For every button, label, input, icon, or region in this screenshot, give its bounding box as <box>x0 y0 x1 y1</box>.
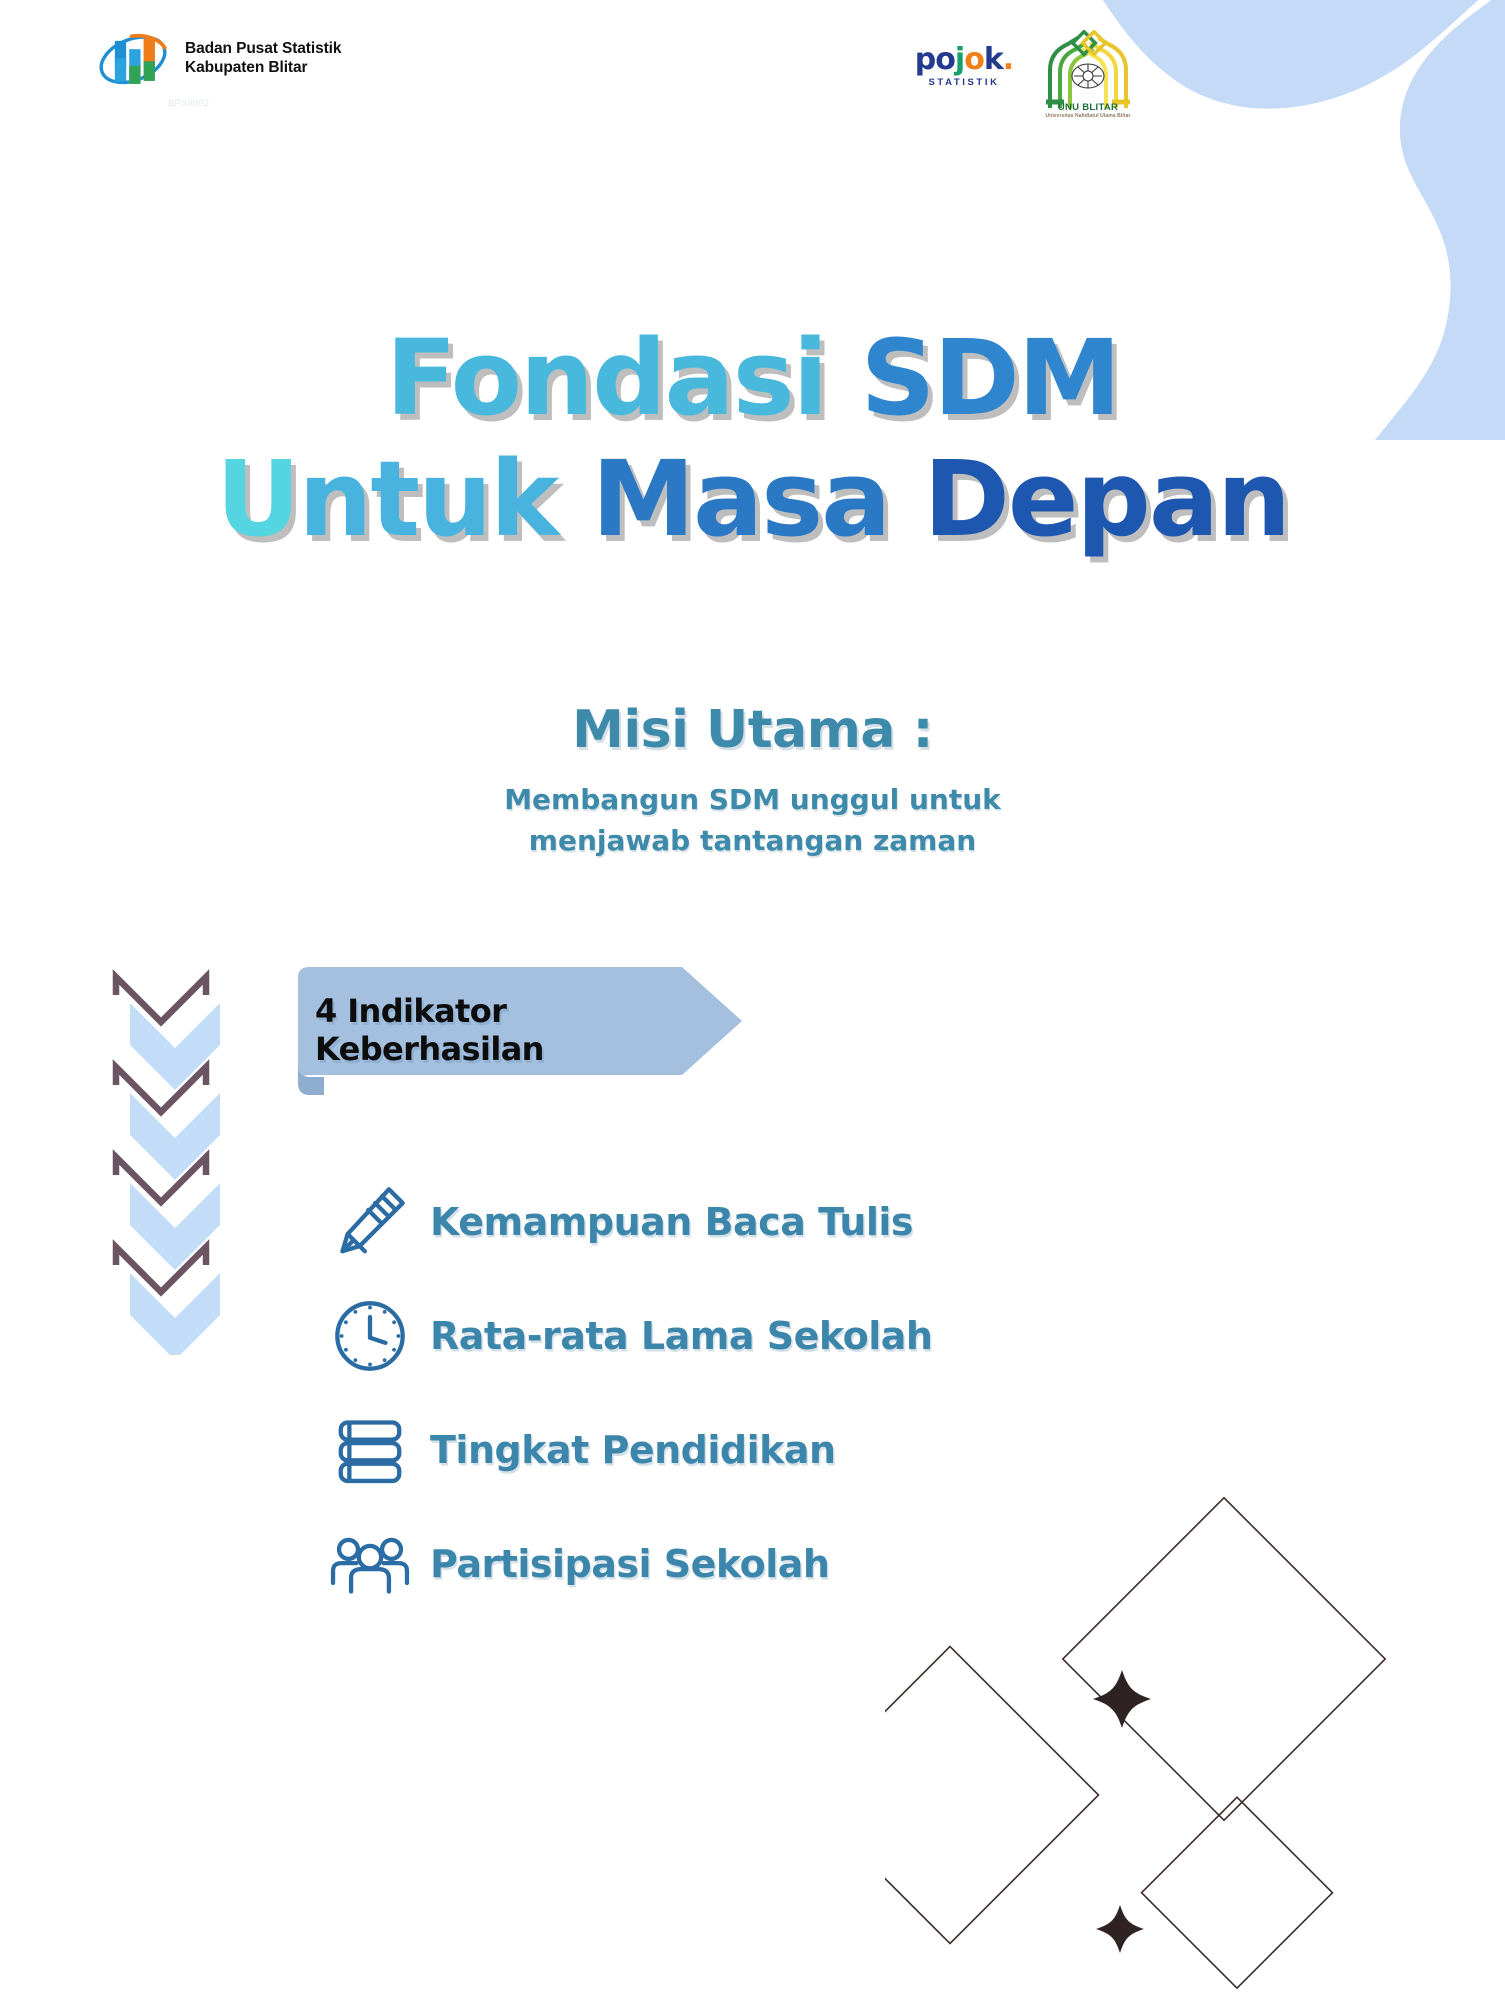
mission-heading: Misi Utama : <box>0 700 1505 760</box>
chevron-filled-icon <box>130 1273 220 1355</box>
chevron-decoration-group <box>110 955 300 1355</box>
poster-header: Badan Pusat Statistik Kabupaten Blitar B… <box>0 0 1505 130</box>
pojok-statistik-logo: pojok. STATISTIK <box>908 46 1020 88</box>
pojok-wordmark: pojok. <box>908 46 1020 75</box>
pencil-icon <box>310 1177 430 1267</box>
mission-subtitle-line2: menjawab tantangan zaman <box>0 821 1505 862</box>
title-part: ntuk <box>298 438 591 560</box>
bps-logo-icon <box>95 28 171 90</box>
indicator-list: Kemampuan Baca Tulis Rata-rata Lama Seko… <box>310 1165 1210 1621</box>
books-icon <box>310 1405 430 1495</box>
indicator-label: Rata-rata Lama Sekolah <box>430 1314 932 1358</box>
chevron-outline-icon <box>116 977 206 1022</box>
indicator-row: Tingkat Pendidikan <box>310 1393 1210 1507</box>
title-part: Fondasi <box>386 317 861 439</box>
bps-logo-text: Badan Pusat Statistik Kabupaten Blitar <box>185 40 341 78</box>
indicator-label: Kemampuan Baca Tulis <box>430 1200 913 1244</box>
mission-subtitle: Membangun SDM unggul untuk menjawab tant… <box>0 780 1505 861</box>
people-icon <box>310 1519 430 1609</box>
mission-subtitle-line1: Membangun SDM unggul untuk <box>0 780 1505 821</box>
poster-title: Fondasi SDM Untuk Masa Depan <box>0 318 1505 559</box>
indicator-label: Tingkat Pendidikan <box>430 1428 836 1472</box>
banner-label: 4 Indikator Keberhasilan <box>315 1000 735 1060</box>
unu-tagline-text: Universitas Nahdlatul Ulama Blitar <box>1032 113 1144 119</box>
bps-line1: Badan Pusat Statistik <box>185 40 341 59</box>
clock-icon <box>310 1291 430 1381</box>
sparkle-icon <box>1093 1670 1151 1728</box>
title-line-2: Untuk Masa Depan <box>0 439 1505 560</box>
unu-blitar-logo: UNU BLITAR Universitas Nahdlatul Ulama B… <box>1032 30 1144 122</box>
bps-line2: Kabupaten Blitar <box>185 59 341 78</box>
mission-section: Misi Utama : Membangun SDM unggul untuk … <box>0 700 1505 861</box>
title-part: SDM <box>860 317 1119 439</box>
indicator-row: Partisipasi Sekolah <box>310 1507 1210 1621</box>
pojok-subtitle: STATISTIK <box>908 77 1020 88</box>
title-part: Depan <box>924 438 1290 560</box>
unu-name-text: UNU BLITAR <box>1032 102 1144 113</box>
bps-watermark: BPS0002 <box>168 98 210 108</box>
indicator-label: Partisipasi Sekolah <box>430 1542 829 1586</box>
bps-logo-block: Badan Pusat Statistik Kabupaten Blitar <box>95 28 341 90</box>
title-part: U <box>216 438 298 560</box>
indicator-row: Rata-rata Lama Sekolah <box>310 1279 1210 1393</box>
indicator-row: Kemampuan Baca Tulis <box>310 1165 1210 1279</box>
title-line-1: Fondasi SDM <box>0 318 1505 439</box>
title-part: Masa <box>592 438 924 560</box>
sparkle-icon <box>1096 1905 1144 1953</box>
